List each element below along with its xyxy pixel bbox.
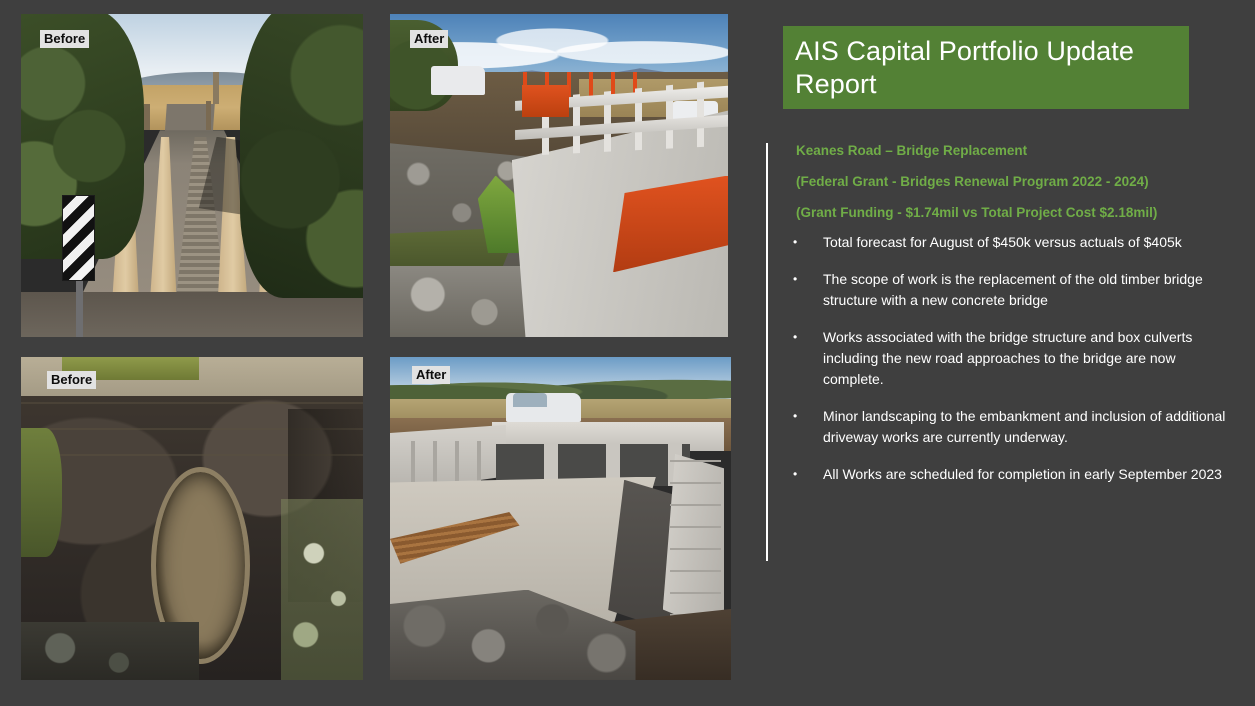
photo-scene: [390, 357, 731, 680]
weeds-left-layer: [21, 428, 62, 557]
list-item: • Total forecast for August of $450k ver…: [793, 232, 1238, 253]
project-name-heading: Keanes Road – Bridge Replacement: [796, 143, 1236, 159]
project-headings: Keanes Road – Bridge Replacement (Federa…: [796, 143, 1236, 236]
weeds-right-layer: [281, 499, 363, 680]
photo-label-before: Before: [47, 371, 96, 389]
photo-before-pipe-culvert: Before: [21, 357, 363, 680]
list-item: • The scope of work is the replacement o…: [793, 269, 1238, 311]
white-vehicle-icon: [431, 66, 485, 95]
status-bullet-list: • Total forecast for August of $450k ver…: [793, 232, 1238, 501]
bullet-dot-icon: •: [793, 327, 823, 348]
guide-post-icon: [206, 101, 211, 130]
guide-post-icon: [144, 104, 149, 130]
gravel-foreground-layer: [21, 292, 363, 337]
fence-post-icon: [213, 72, 219, 104]
photo-after-box-culverts: After: [390, 357, 731, 680]
wing-wall-left-ribs: [393, 441, 499, 486]
sign-post-icon: [76, 272, 83, 337]
bullet-dot-icon: •: [793, 464, 823, 485]
orange-water-barrier: [522, 85, 569, 117]
bullet-dot-icon: •: [793, 269, 823, 290]
page-title: AIS Capital Portfolio Update Report: [795, 35, 1177, 101]
vertical-divider: [766, 143, 768, 561]
ute-cabin-icon: [513, 393, 547, 408]
list-item-text: Minor landscaping to the embankment and …: [823, 406, 1238, 448]
list-item-text: The scope of work is the replacement of …: [823, 269, 1238, 311]
bullet-dot-icon: •: [793, 406, 823, 427]
list-item-text: Works associated with the bridge structu…: [823, 327, 1238, 390]
bullet-dot-icon: •: [793, 232, 823, 253]
wing-wall-right-ribs: [670, 460, 721, 622]
grant-program-heading: (Federal Grant - Bridges Renewal Program…: [796, 174, 1236, 190]
rubble-foreground-layer: [21, 622, 199, 680]
photo-after-concrete-bridge: After: [390, 14, 728, 337]
photo-label-before: Before: [40, 30, 89, 48]
photo-before-timber-bridge: Before: [21, 14, 363, 337]
title-banner: AIS Capital Portfolio Update Report: [783, 26, 1189, 109]
grant-funding-heading: (Grant Funding - $1.74mil vs Total Proje…: [796, 205, 1236, 221]
list-item: • Works associated with the bridge struc…: [793, 327, 1238, 390]
photo-label-after: After: [412, 366, 450, 384]
list-item-text: All Works are scheduled for completion i…: [823, 464, 1238, 485]
photo-label-after: After: [410, 30, 448, 48]
list-item: • Minor landscaping to the embankment an…: [793, 406, 1238, 448]
list-item: • All Works are scheduled for completion…: [793, 464, 1238, 485]
photo-scene: [21, 357, 363, 680]
list-item-text: Total forecast for August of $450k versu…: [823, 232, 1238, 253]
tree-foliage-right: [240, 14, 363, 298]
photo-scene: [390, 14, 728, 337]
photo-scene: [21, 14, 363, 337]
hazard-marker-sign-icon: [62, 195, 95, 281]
slide-canvas: Before After: [0, 0, 1255, 706]
